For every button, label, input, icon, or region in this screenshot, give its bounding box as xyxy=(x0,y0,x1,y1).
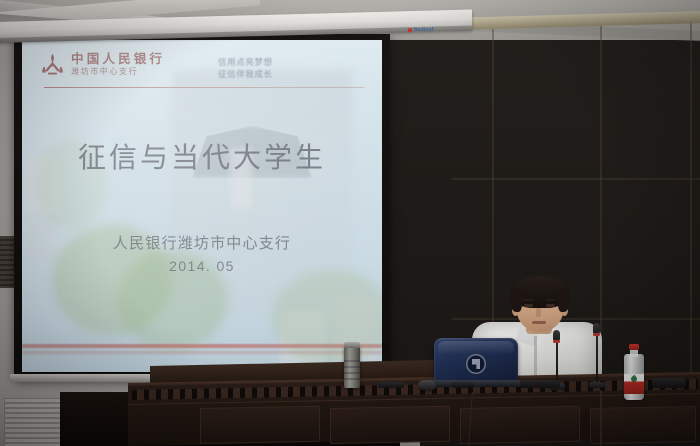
slide-slogan-line-2: 征信伴我成长 xyxy=(218,68,273,80)
slide-logo-org: 中国人民银行 xyxy=(71,53,165,66)
slide-title: 征信与当代大学生 xyxy=(22,136,382,176)
laptop-base xyxy=(430,380,522,387)
podium-panel xyxy=(200,406,320,444)
desk-item xyxy=(520,380,560,388)
slide-subtitle: 人民银行潍坊市中心支行 xyxy=(22,232,382,253)
desk-item xyxy=(378,382,404,388)
mic-red-band xyxy=(553,340,560,343)
laptop[interactable] xyxy=(434,338,518,386)
presenter-eyebrow-left xyxy=(523,299,534,301)
desk-item xyxy=(452,382,474,388)
mic-base xyxy=(589,382,605,388)
presenter-eyebrow-right xyxy=(545,299,556,301)
pboc-emblem-icon xyxy=(40,52,65,77)
computer-mouse[interactable] xyxy=(418,380,436,390)
conference-room-photo: 中国人民银行 潍坊市中心支行 信用点亮梦想 征信伴我成长 征信与当代大学生 人民… xyxy=(0,0,700,446)
mic-red-band xyxy=(593,333,600,336)
presenter-nose xyxy=(536,308,541,317)
microphone-left xyxy=(548,326,566,386)
slide-logo: 中国人民银行 潍坊市中心支行 xyxy=(40,52,165,77)
screen-brand-logo: Redleaf xyxy=(408,27,433,34)
podium-panel xyxy=(590,406,696,444)
bottle-cap xyxy=(629,344,639,350)
presenter-mouth xyxy=(532,321,546,324)
thermos-cup-lid xyxy=(344,342,360,348)
projected-slide: 中国人民银行 潍坊市中心支行 信用点亮梦想 征信伴我成长 征信与当代大学生 人民… xyxy=(22,40,382,372)
screen-brand-label: Redleaf xyxy=(414,27,433,34)
presenter-hair-side-right xyxy=(558,288,570,312)
podium-panel xyxy=(460,406,580,444)
microphone-right xyxy=(588,320,606,386)
dell-logo-icon xyxy=(466,354,486,374)
podium-cable-2 xyxy=(600,390,602,446)
water-bottle xyxy=(624,344,644,400)
slide-slogan: 信用点亮梦想 征信伴我成长 xyxy=(218,56,273,81)
slide-header-rule xyxy=(44,87,364,88)
slide-date: 2014. 05 xyxy=(22,258,382,274)
desk-item xyxy=(652,378,686,388)
slide-bottom-accent-line xyxy=(22,344,382,348)
laptop-lid xyxy=(434,338,518,382)
slide-bottom-accent-line-2 xyxy=(22,351,382,354)
presenter-eye-left xyxy=(524,304,533,307)
laptop-lid-sheen xyxy=(438,341,514,355)
slide-slogan-line-1: 信用点亮梦想 xyxy=(218,56,273,68)
podium-panel xyxy=(330,406,450,444)
presenter-hair-side-left xyxy=(510,288,522,312)
brand-square-icon xyxy=(408,28,412,32)
slide-logo-branch: 潍坊市中心支行 xyxy=(71,68,165,76)
thermos-cup-rings xyxy=(344,360,360,382)
presenter-eye-right xyxy=(546,304,555,307)
